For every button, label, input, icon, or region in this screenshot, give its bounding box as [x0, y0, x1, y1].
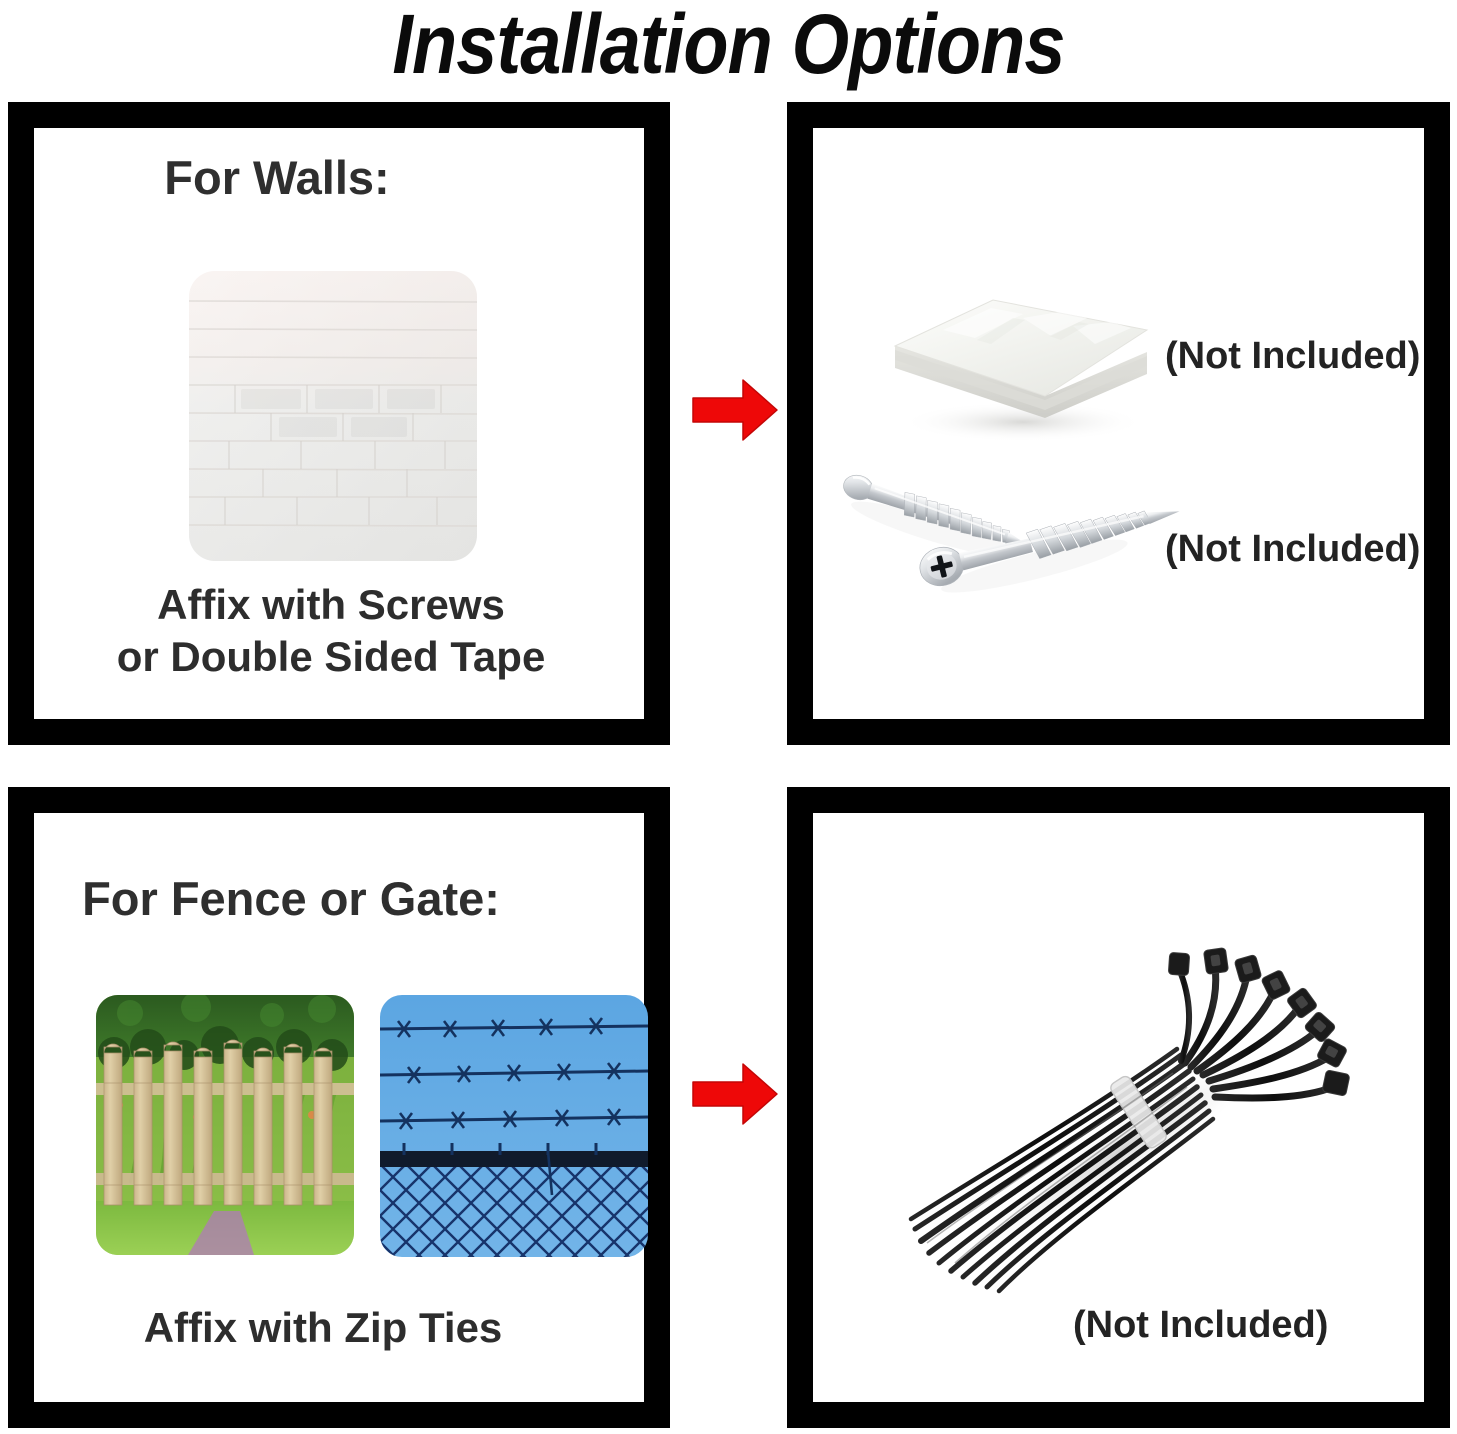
barbed-wire-chain-link-fence-image	[380, 995, 648, 1257]
panel-wall-hardware: (Not Included)	[787, 102, 1450, 745]
panel-heading-fence: For Fence or Gate:	[0, 871, 596, 927]
note-not-included-screws: (Not Included)	[1165, 527, 1420, 571]
panel-ziptie-hardware: (Not Included)	[787, 787, 1450, 1428]
panel-caption-walls: Affix with Screws or Double Sided Tape	[26, 579, 636, 683]
black-zip-tie-bundle-image	[855, 923, 1355, 1323]
panel-for-walls: For Walls:	[8, 102, 670, 745]
caption-line-1: Affix with Screws	[26, 579, 636, 631]
panel-heading-walls: For Walls:	[0, 150, 582, 206]
wooden-picket-fence-image	[96, 995, 354, 1255]
page-title: Installation Options	[87, 0, 1369, 96]
wood-screws-image	[841, 458, 1191, 658]
note-not-included-zipties: (Not Included)	[1073, 1303, 1328, 1347]
note-not-included-tape: (Not Included)	[1165, 334, 1420, 378]
double-sided-tape-stack-image	[873, 256, 1169, 446]
arrow-right-icon	[691, 378, 779, 442]
arrow-right-icon	[691, 1062, 779, 1126]
white-brick-wall-image	[189, 271, 477, 561]
panel-for-fence-or-gate: For Fence or Gate:	[8, 787, 670, 1428]
panel-caption-fence: Affix with Zip Ties	[18, 1302, 628, 1354]
caption-line-2: or Double Sided Tape	[26, 631, 636, 683]
